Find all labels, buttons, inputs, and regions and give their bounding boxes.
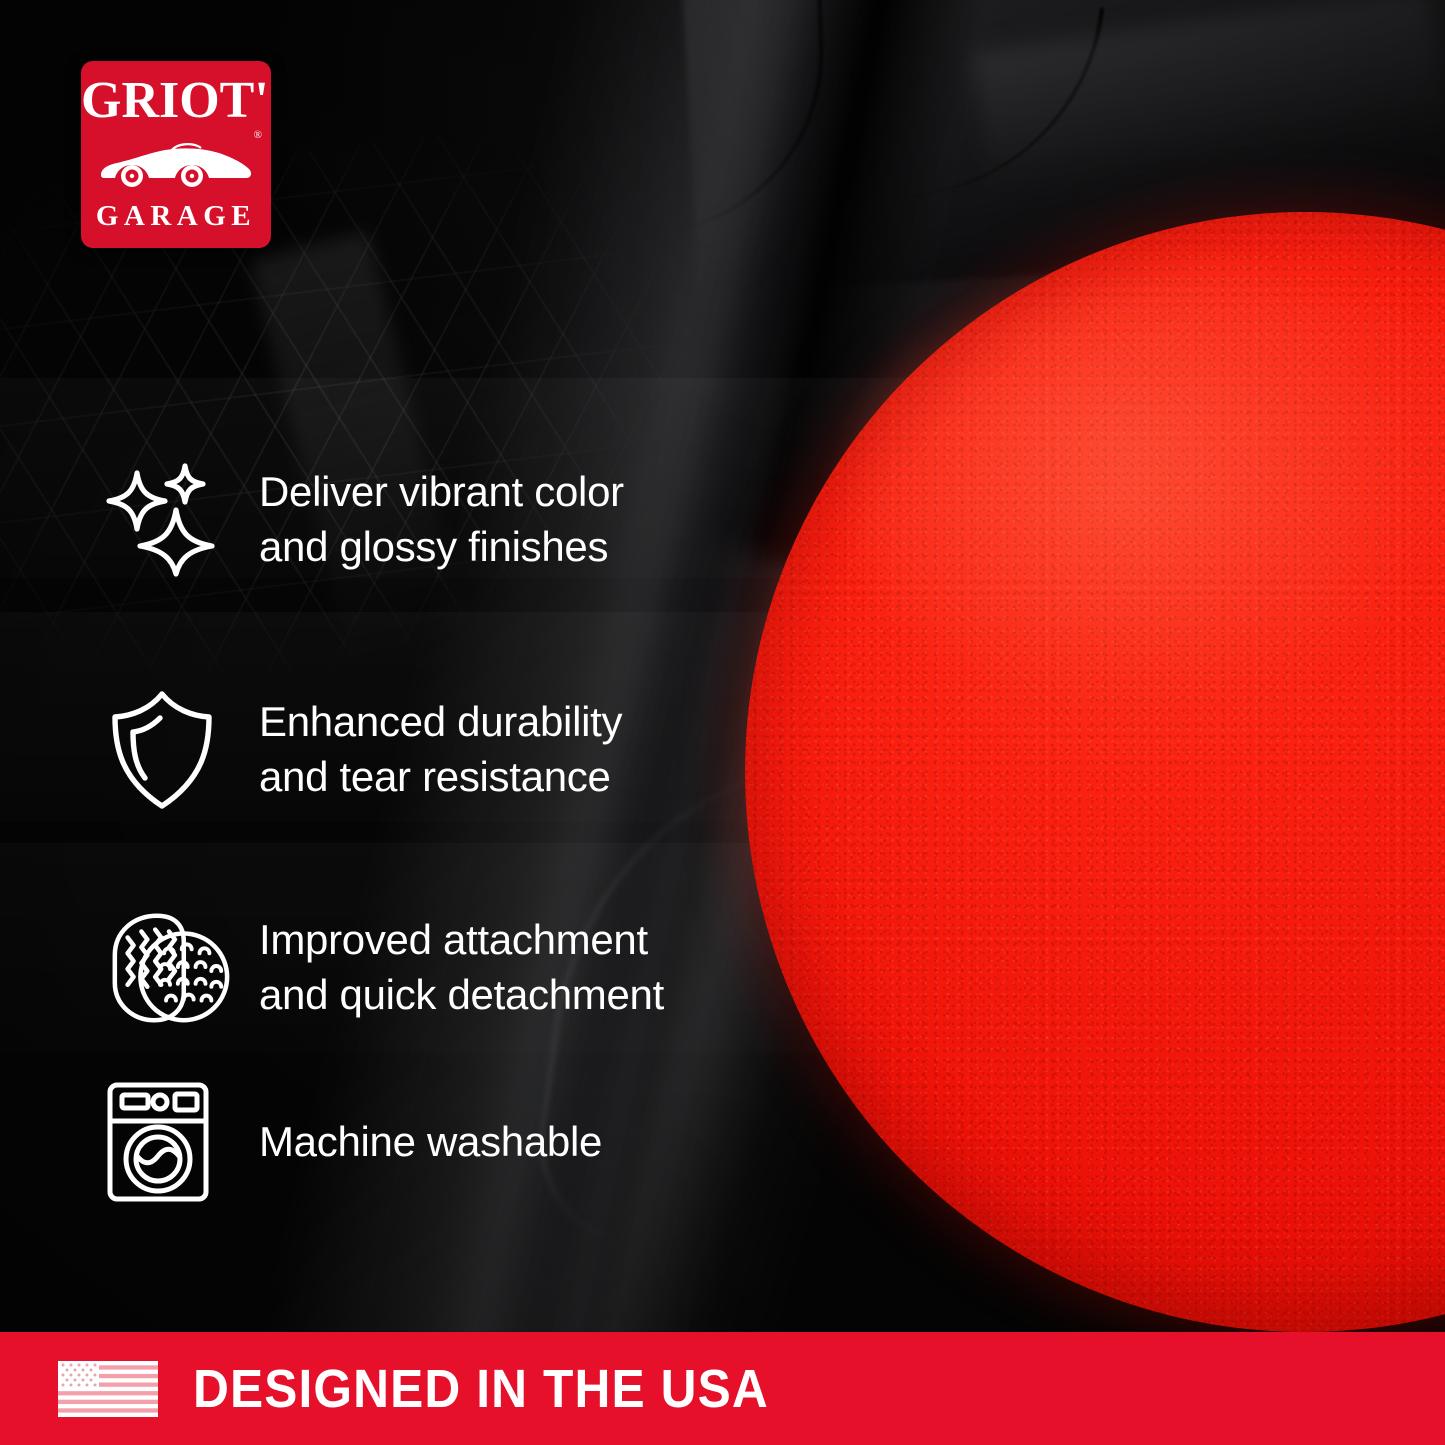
- designed-in-usa-label: DESIGNED IN THE USA: [193, 1358, 769, 1420]
- sparkles-icon: [103, 461, 229, 579]
- shield-icon: [103, 687, 221, 813]
- feature-row: Improved attachment and quick detachment: [103, 864, 723, 1072]
- washing-machine-icon: [103, 1079, 213, 1205]
- feature-icon-slot: [103, 687, 235, 813]
- feature-icon-slot: [103, 461, 235, 579]
- product-feature-graphic: GRIOT'S ® GARAGE: [0, 0, 1445, 1445]
- feature-label: Improved attachment and quick detachment: [259, 913, 664, 1022]
- roadster-car-icon: [97, 139, 255, 191]
- feature-icon-slot: [103, 1079, 235, 1205]
- feature-row: Enhanced durability and tear resistance: [103, 636, 723, 864]
- feature-label: Deliver vibrant color and glossy finishe…: [259, 465, 624, 574]
- feature-icon-slot: [103, 907, 235, 1029]
- hook-and-loop-icon: [103, 907, 235, 1029]
- feature-row: Deliver vibrant color and glossy finishe…: [103, 404, 723, 636]
- feature-row: Machine washable: [103, 1072, 723, 1212]
- feature-label: Enhanced durability and tear resistance: [259, 695, 622, 804]
- griots-garage-logo: GRIOT'S ® GARAGE: [81, 61, 271, 248]
- designed-in-usa-banner: DESIGNED IN THE USA: [0, 1332, 1445, 1445]
- logo-wordmark: GRIOT'S: [81, 75, 271, 127]
- feature-label: Machine washable: [259, 1115, 602, 1170]
- usa-flag-icon: [58, 1361, 158, 1417]
- logo-subtext: GARAGE: [81, 202, 271, 231]
- feature-list: Deliver vibrant color and glossy finishe…: [103, 404, 723, 1212]
